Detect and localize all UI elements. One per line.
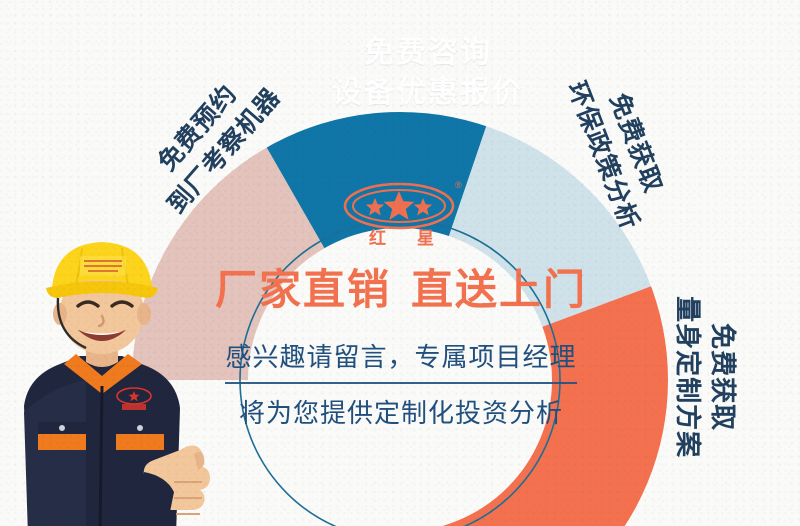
subtitle-divider xyxy=(225,382,577,384)
smiling-worker-photo xyxy=(0,236,230,526)
headline: 厂家直销直送上门 xyxy=(196,256,606,317)
arc-label-free-consult[interactable]: 免费咨询 设备优惠报价 xyxy=(318,36,538,109)
subtitle-line-1: 感兴趣请留言，专属项目经理 xyxy=(196,337,606,374)
logo-char-left: 红 xyxy=(369,228,386,248)
arc-label-line: 设备优惠报价 xyxy=(318,76,538,110)
arc-label-line: 量身定制方案 xyxy=(673,272,702,482)
subtitle-line-2: 将为您提供定制化投资分析 xyxy=(196,393,606,430)
headline-part1: 厂家直销 xyxy=(215,266,391,313)
logo-char-right: 星 xyxy=(417,229,434,248)
promo-banner: 免费咨询 设备优惠报价 免费预约 到厂考察机器 免费获取 环保政策分析 免费获取… xyxy=(0,0,800,526)
brand-logo: ® 红 星 xyxy=(333,178,469,250)
center-content: ® 红 星 厂家直销直送上门 感兴趣请留言，专属项目经理 将为您提供定制化投资分… xyxy=(196,178,606,430)
hongxing-logo-icon: ® 红 星 xyxy=(333,178,469,250)
arc-label-line: 免费获取 xyxy=(708,272,737,482)
registered-mark: ® xyxy=(455,180,462,190)
arc-label-custom-plan[interactable]: 免费获取 量身定制方案 xyxy=(673,272,737,482)
headline-part2: 直送上门 xyxy=(411,266,587,313)
arc-label-line: 免费咨询 xyxy=(318,36,538,70)
